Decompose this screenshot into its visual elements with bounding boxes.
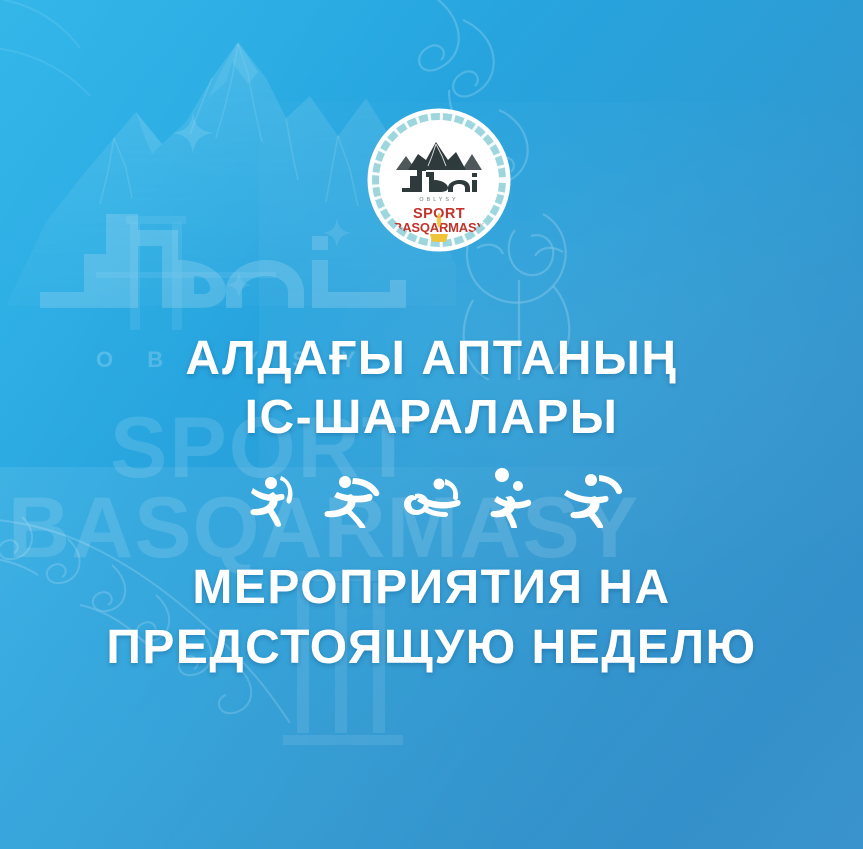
poster-content: АЛДАҒЫ АПТАНЫҢ ІС-ШАРАЛАРЫ bbox=[0, 0, 863, 849]
headline-ru-line-1: МЕРОПРИЯТИЯ НА bbox=[0, 558, 863, 618]
athlete-volleyball-icon bbox=[481, 466, 543, 528]
headline-russian: МЕРОПРИЯТИЯ НА ПРЕДСТОЯЩУЮ НЕДЕЛЮ bbox=[0, 558, 863, 679]
athlete-gymnast-icon bbox=[561, 466, 623, 528]
athlete-swimming-icon bbox=[401, 466, 463, 528]
headline-kz-line-2: ІС-ШАРАЛАРЫ bbox=[0, 389, 863, 448]
headline-kz-line-1: АЛДАҒЫ АПТАНЫҢ bbox=[0, 330, 863, 389]
athlete-running-icon bbox=[321, 466, 383, 528]
headline-kazakh: АЛДАҒЫ АПТАНЫҢ ІС-ШАРАЛАРЫ bbox=[0, 330, 863, 447]
poster-canvas: O B L Y S Y SPORT BASQARMASY bbox=[0, 0, 863, 849]
headline-ru-line-2: ПРЕДСТОЯЩУЮ НЕДЕЛЮ bbox=[0, 618, 863, 678]
athlete-throwing-icon bbox=[241, 466, 303, 528]
sport-pictogram-row bbox=[0, 466, 863, 528]
